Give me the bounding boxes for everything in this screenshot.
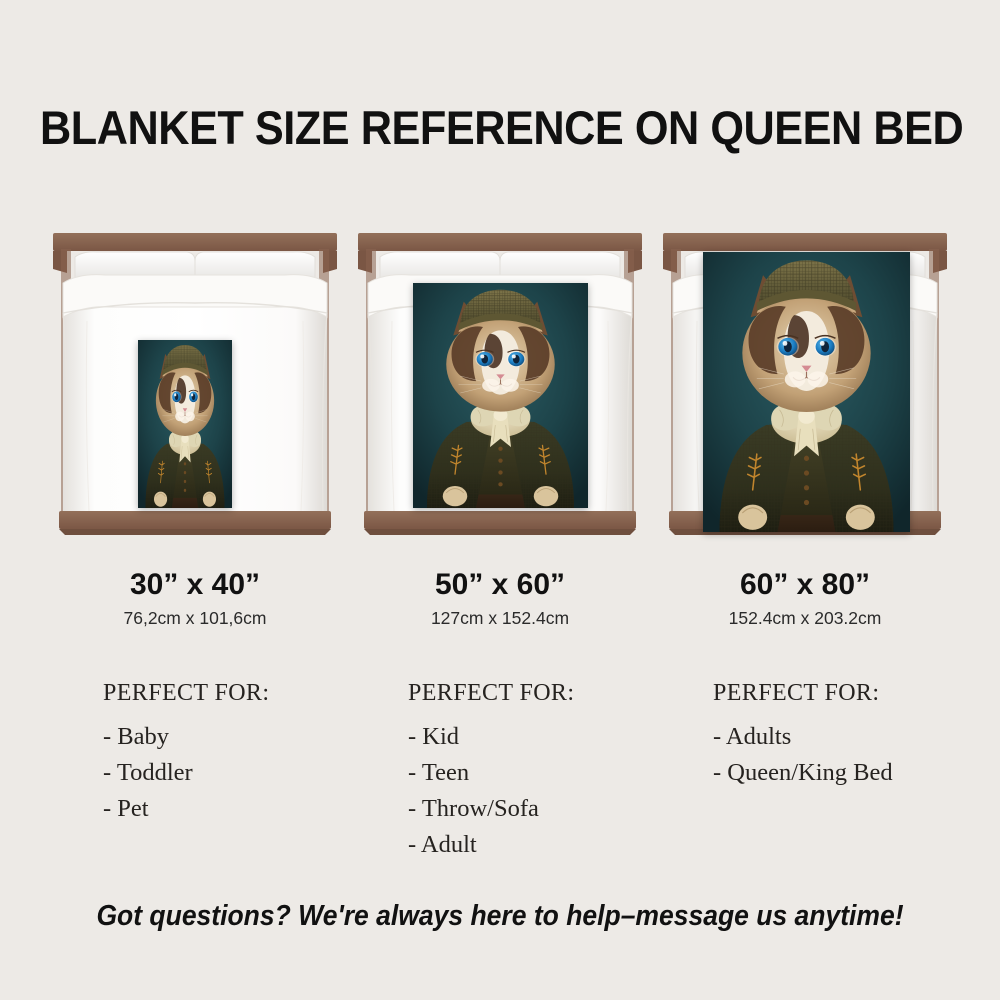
cat-portrait-artwork — [138, 340, 232, 508]
list-item: - Teen — [408, 755, 574, 791]
perfect-for-block: PERFECT FOR:- Kid- Teen- Throw/Sofa- Adu… — [408, 680, 574, 863]
list-item: - Adult — [408, 827, 574, 863]
size-label-metric: 127cm x 152.4cm — [350, 608, 650, 629]
list-item: - Toddler — [103, 755, 269, 791]
list-item: - Adults — [713, 719, 893, 755]
infographic-page: BLANKET SIZE REFERENCE ON QUEEN BED — [0, 0, 1000, 1000]
perfect-for-heading: PERFECT FOR: — [713, 680, 893, 707]
footer-tagline: Got questions? We're always here to help… — [35, 900, 965, 933]
list-item: - Kid — [408, 719, 574, 755]
cat-portrait-artwork — [703, 252, 910, 532]
perfect-for-list: - Baby- Toddler- Pet — [103, 719, 269, 827]
list-item: - Baby — [103, 719, 269, 755]
perfect-for-list: - Kid- Teen- Throw/Sofa- Adult — [408, 719, 574, 863]
blanket-blanket-60x80 — [703, 252, 910, 532]
bed-illustration — [655, 225, 955, 545]
bed-illustration — [350, 225, 650, 545]
perfect-for-heading: PERFECT FOR: — [408, 680, 574, 707]
size-label-metric: 76,2cm x 101,6cm — [45, 608, 345, 629]
perfect-for-block: PERFECT FOR:- Baby- Toddler- Pet — [103, 680, 269, 827]
list-item: - Throw/Sofa — [408, 791, 574, 827]
perfect-for-heading: PERFECT FOR: — [103, 680, 269, 707]
list-item: - Pet — [103, 791, 269, 827]
perfect-for-block: PERFECT FOR:- Adults- Queen/King Bed — [713, 680, 893, 791]
size-label-imperial: 30” x 40” — [45, 568, 345, 602]
perfect-for-list: - Adults- Queen/King Bed — [713, 719, 893, 791]
bed-illustration — [45, 225, 345, 545]
size-label-metric: 152.4cm x 203.2cm — [655, 608, 955, 629]
cat-portrait-artwork — [413, 283, 588, 508]
blanket-blanket-50x60 — [413, 283, 588, 508]
blanket-blanket-30x40 — [138, 340, 232, 508]
page-title: BLANKET SIZE REFERENCE ON QUEEN BED — [40, 100, 960, 155]
list-item: - Queen/King Bed — [713, 755, 893, 791]
size-label-imperial: 60” x 80” — [655, 568, 955, 602]
size-label-imperial: 50” x 60” — [350, 568, 650, 602]
